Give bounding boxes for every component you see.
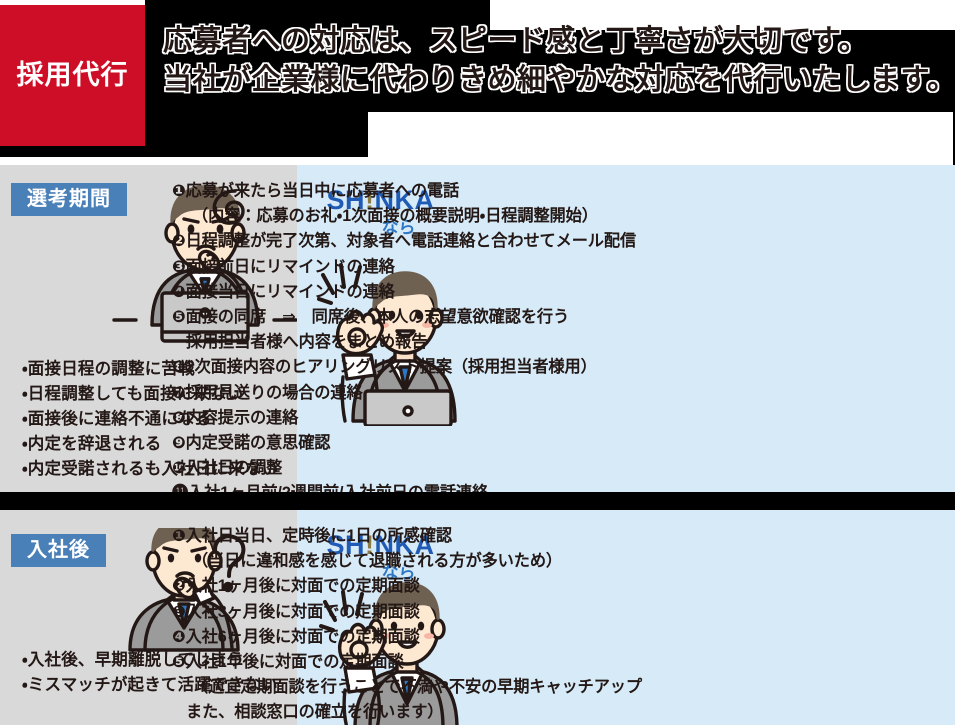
benefit-text: 2次面接内容のヒアリングリスト提案（採用担当者様用） — [186, 358, 597, 376]
benefit-item: ❶応募が来たら当日中に応募者への電話 — [172, 179, 652, 204]
benefit-item: ❿入社日の調整 — [172, 456, 652, 481]
benefit-text: 面接の同席 ⇒ 同席後、本人の志望意欲確認を行う — [186, 308, 569, 326]
benefit-number: ❺ — [172, 653, 186, 671]
benefit-number: ❺ — [172, 308, 186, 326]
benefit-item: ❷日程調整が完了次第、対象者へ電話連絡と合わせてメール配信 — [172, 229, 652, 254]
benefit-text: 内定受諾の意思確認 — [186, 434, 331, 452]
benefit-text: 入社1ヶ月後に対面での定期面談 — [186, 577, 420, 595]
benefit-number: ❹ — [172, 628, 186, 646]
section-divider — [0, 492, 955, 510]
benefit-item: ❻2次面接内容のヒアリングリスト提案（採用担当者様用） — [172, 355, 652, 380]
benefit-list: ❶入社日当日、定時後に1日の所感確認 （当日に違和感を感じて退職される方が多いた… — [172, 524, 652, 725]
benefit-text: 採用見送りの場合の連絡 — [186, 384, 363, 402]
benefit-number: ❻ — [172, 358, 186, 376]
benefit-item: ❸入社3ヶ月後に対面での定期面談 — [172, 600, 652, 625]
benefit-number: ❷ — [172, 232, 186, 250]
header-badge-label: 採用代行 — [17, 62, 129, 89]
benefit-subtext: （内容：応募のお礼・1次面接の概要説明・日程調整開始） — [172, 204, 652, 229]
benefit-number: ❶ — [172, 527, 186, 545]
benefit-item: ❽内容提示の連絡 — [172, 406, 652, 431]
benefit-number: ❼ — [172, 384, 186, 402]
benefit-number: ❽ — [172, 409, 186, 427]
benefit-number: ❶ — [172, 182, 186, 200]
benefit-list: ❶応募が来たら当日中に応募者への電話 （内容：応募のお礼・1次面接の概要説明・日… — [172, 179, 652, 507]
benefit-text: 入社1年後に対面での定期面談 — [186, 653, 404, 671]
header: 採用代行 応募者への対応は、スピード感と丁寧さが大切です。 当社が企業様に代わり… — [0, 0, 955, 165]
header-badge: 採用代行 — [0, 5, 145, 146]
benefit-text: 日程調整が完了次第、対象者へ電話連絡と合わせてメール配信 — [186, 232, 636, 250]
benefit-text: 入社日当日、定時後に1日の所感確認 — [186, 527, 452, 545]
benefit-subtext: また、相談窓口の確立を行います） — [172, 700, 652, 725]
benefit-number: ❷ — [172, 577, 186, 595]
benefit-subtext: 採用担当者様へ内容をまとめ報告 — [172, 330, 652, 355]
benefit-item: ❾内定受諾の意思確認 — [172, 431, 652, 456]
benefit-number: ❸ — [172, 603, 186, 621]
benefit-text: 応募が来たら当日中に応募者への電話 — [186, 182, 460, 200]
benefit-subtext: （適宜定期面談を行うことで不満や不安の早期キャッチアップ — [172, 675, 652, 700]
benefit-text: 入社日の調整 — [186, 459, 283, 477]
section-badge: 入社後 — [11, 534, 106, 567]
benefit-text: 内容提示の連絡 — [186, 409, 299, 427]
benefit-item: ❶入社日当日、定時後に1日の所感確認 — [172, 524, 652, 549]
section-after-joining: 入社後 — [0, 510, 955, 725]
benefit-text: 入社3ヶ月後に対面での定期面談 — [186, 603, 420, 621]
benefit-text: 面接前日にリマインドの連絡 — [186, 258, 395, 276]
infographic-page: 採用代行 応募者への対応は、スピード感と丁寧さが大切です。 当社が企業様に代わり… — [0, 0, 955, 725]
benefit-number: ❿ — [172, 459, 186, 477]
header-headline-line2: 当社が企業様に代わりきめ細やかな対応を代行いたします。 — [163, 61, 953, 100]
header-headline-line1: 応募者への対応は、スピード感と丁寧さが大切です。 — [163, 22, 953, 61]
benefit-item: ❼採用見送りの場合の連絡 — [172, 381, 652, 406]
header-headline: 応募者への対応は、スピード感と丁寧さが大切です。 当社が企業様に代わりきめ細やか… — [163, 22, 953, 100]
benefit-number: ❸ — [172, 258, 186, 276]
benefit-text: 入社6ヶ月後に対面での定期面談 — [186, 628, 420, 646]
benefit-subtext: （当日に違和感を感じて退職される方が多いため） — [172, 549, 652, 574]
benefit-item: ❹入社6ヶ月後に対面での定期面談 — [172, 625, 652, 650]
benefit-item: ❷入社1ヶ月後に対面での定期面談 — [172, 574, 652, 599]
benefit-number: ❹ — [172, 283, 186, 301]
benefit-number: ❾ — [172, 434, 186, 452]
benefit-text: 面接当日にリマインドの連絡 — [186, 283, 395, 301]
section-selection-period: 選考期間 — [0, 165, 955, 492]
benefit-item: ❹面接当日にリマインドの連絡 — [172, 280, 652, 305]
benefit-item: ❺面接の同席 ⇒ 同席後、本人の志望意欲確認を行う — [172, 305, 652, 330]
benefit-item: ❸面接前日にリマインドの連絡 — [172, 255, 652, 280]
benefit-item: ❺入社1年後に対面での定期面談 — [172, 650, 652, 675]
